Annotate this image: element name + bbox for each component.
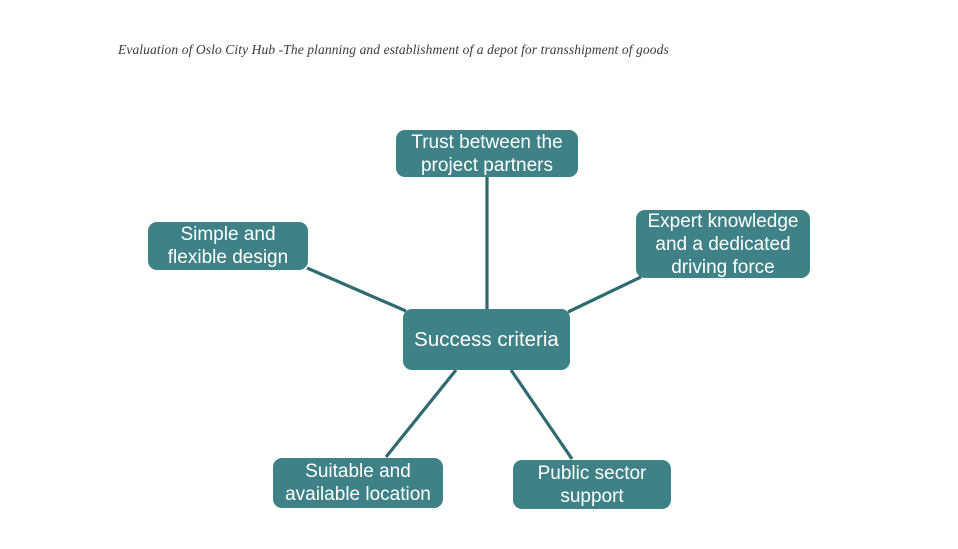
center-node-success-criteria[interactable]: Success criteria <box>403 309 570 370</box>
node-label-public-sector: Public sector support <box>538 462 647 508</box>
node-suitable-location[interactable]: Suitable and available location <box>273 458 443 508</box>
connector-lines <box>0 0 958 549</box>
node-label-trust: Trust between the project partners <box>411 131 562 177</box>
connector-center-to-expert-knowledge <box>568 277 641 312</box>
connector-center-to-public-sector <box>511 370 572 459</box>
node-expert-knowledge[interactable]: Expert knowledge and a dedicated driving… <box>636 210 810 278</box>
connector-center-to-simple-design <box>307 268 406 311</box>
slide-canvas: Evaluation of Oslo City Hub -The plannin… <box>0 0 958 549</box>
node-trust[interactable]: Trust between the project partners <box>396 130 578 177</box>
center-node-label: Success criteria <box>414 328 559 351</box>
node-label-expert-knowledge: Expert knowledge and a dedicated driving… <box>647 210 798 279</box>
node-simple-design[interactable]: Simple and flexible design <box>148 222 308 270</box>
node-label-simple-design: Simple and flexible design <box>168 223 288 269</box>
connector-center-to-suitable-location <box>386 370 456 457</box>
node-public-sector[interactable]: Public sector support <box>513 460 671 509</box>
node-label-suitable-location: Suitable and available location <box>285 460 431 506</box>
